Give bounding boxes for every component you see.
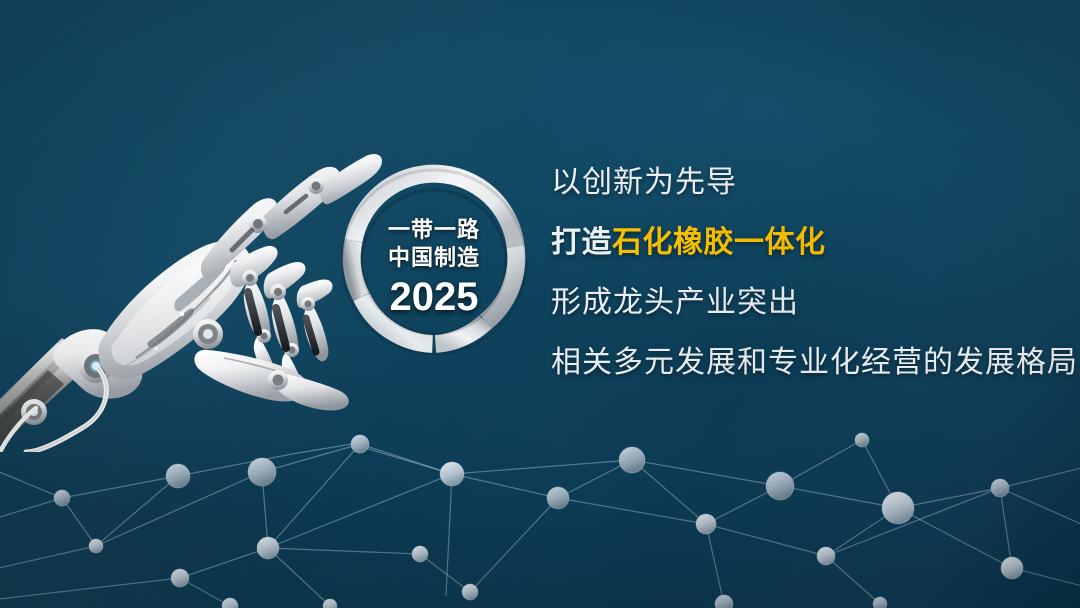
copy-line-4: 相关多元发展和专业化经营的发展格局	[551, 346, 1061, 380]
headline-copy-block: 以创新为先导 打造石化橡胶一体化 形成龙头产业突出 相关多元发展和专业化经营的发…	[551, 166, 1061, 380]
slide-canvas: 一带一路 中国制造 2025 以创新为先导 打造石化橡胶一体化 形成龙头产业突出…	[0, 0, 1080, 608]
copy-line-3: 形成龙头产业突出	[551, 286, 1061, 320]
badge-line-belt-and-road: 一带一路	[336, 217, 532, 243]
copy-line-2-highlight: 石化橡胶一体化	[612, 226, 826, 259]
copy-line-1: 以创新为先导	[551, 166, 1061, 200]
badge-line-made-in-china: 中国制造	[336, 245, 532, 271]
made-in-china-2025-ring-badge: 一带一路 中国制造 2025	[336, 162, 532, 362]
copy-line-2-prefix: 打造	[551, 226, 612, 259]
network-nodes-graphic	[0, 428, 1080, 608]
badge-year-2025: 2025	[336, 275, 532, 319]
copy-line-2: 打造石化橡胶一体化	[551, 226, 1061, 260]
